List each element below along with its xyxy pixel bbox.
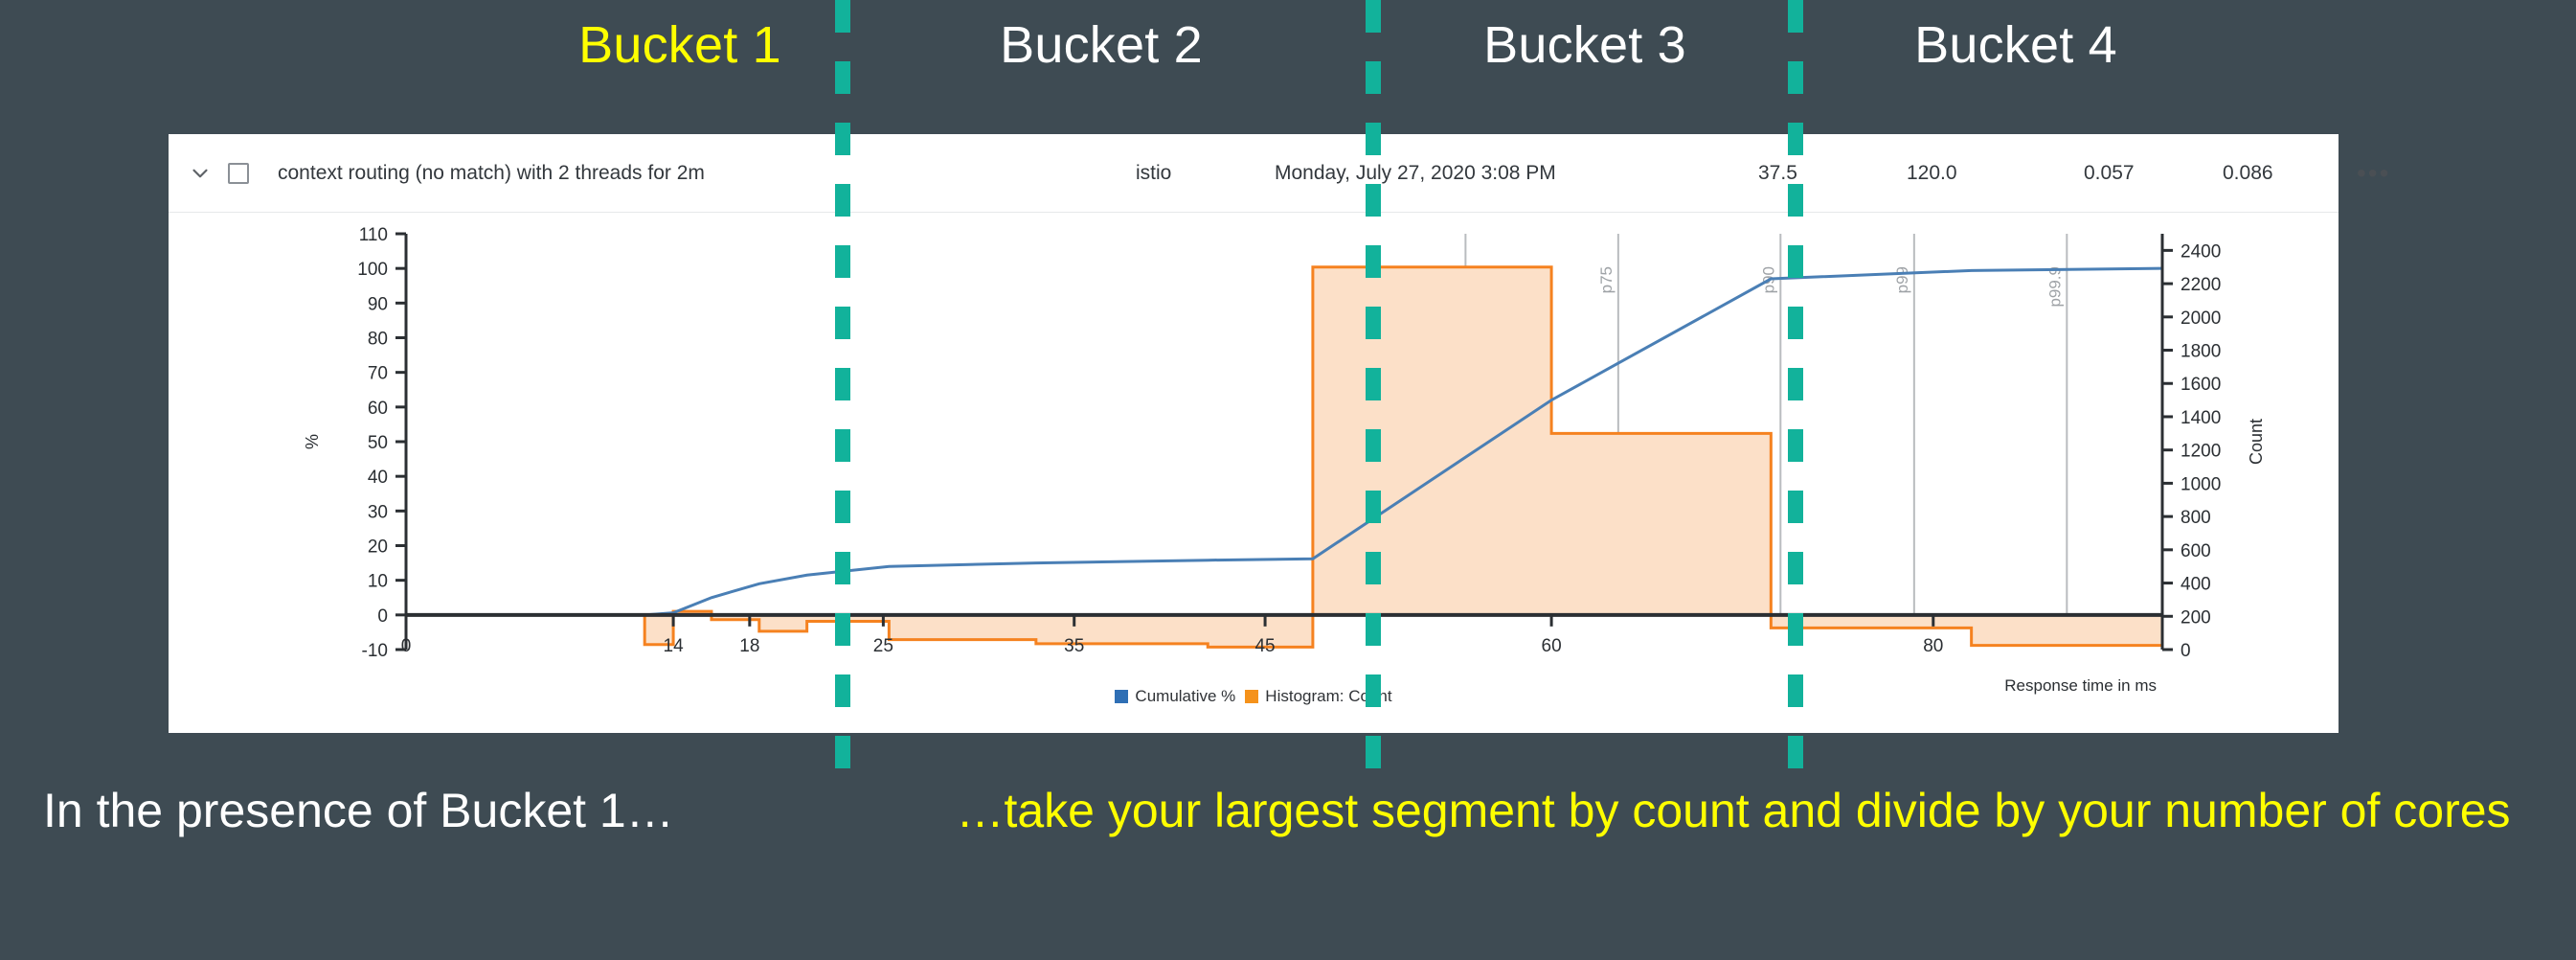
x-tick-label: 14 (664, 636, 685, 656)
percentile-label-p75: p75 (1597, 266, 1616, 293)
x-tick-label: 45 (1254, 636, 1275, 656)
y-tick-label-right: 2000 (2181, 309, 2221, 329)
y-tick-label-left: 110 (359, 225, 388, 245)
x-tick-label: 60 (1542, 636, 1562, 656)
cumulative-series (406, 268, 2162, 615)
checkbox-unchecked-icon[interactable] (228, 163, 249, 184)
divider-1 (835, 0, 850, 778)
x-tick-label: 18 (739, 636, 759, 656)
y-tick-label-right: 400 (2181, 575, 2211, 595)
metric-value-3: 0.057 (2084, 162, 2135, 185)
y-tick-label-right: 600 (2181, 541, 2211, 561)
histogram-series (644, 267, 2162, 648)
y-axis-label-right: Count (2247, 419, 2266, 465)
bucket-label-2: Bucket 2 (986, 17, 1216, 74)
y-tick-label-left: 90 (368, 294, 388, 314)
chevron-down-icon[interactable] (188, 161, 213, 186)
y-tick-label-left: 40 (368, 468, 388, 488)
y-tick-label-left: 80 (368, 330, 388, 350)
x-tick-label: 25 (873, 636, 893, 656)
y-tick-label-right: 1400 (2181, 408, 2221, 428)
y-tick-label-right: 2200 (2181, 275, 2221, 295)
divider-2 (1366, 0, 1381, 778)
caption-right: …take your largest segment by count and … (924, 784, 2542, 838)
bucket-label-3: Bucket 3 (1470, 17, 1700, 74)
x-axis-label: Response time in ms (2004, 676, 2157, 695)
y-tick-label-right: 800 (2181, 508, 2211, 528)
metric-value-4: 0.086 (2223, 162, 2273, 185)
y-tick-label-left: 20 (368, 537, 388, 558)
result-row-header[interactable]: context routing (no match) with 2 thread… (169, 134, 2339, 213)
x-tick-label: 0 (401, 636, 412, 656)
x-tick-label: 35 (1064, 636, 1084, 656)
overflow-menu-icon[interactable]: ••• (2357, 169, 2390, 178)
benchmark-result-card: context routing (no match) with 2 thread… (169, 134, 2339, 733)
slide-root: Bucket 1 Bucket 2 Bucket 3 Bucket 4 cont… (0, 0, 2576, 960)
y-tick-label-left: 70 (368, 364, 388, 384)
divider-3 (1788, 0, 1803, 778)
y-tick-label-left: 10 (368, 572, 388, 592)
bucket-label-1: Bucket 1 (565, 17, 795, 74)
y-tick-label-left: 0 (377, 606, 388, 627)
metric-value-2: 120.0 (1907, 162, 1957, 185)
y-tick-label-right: 1000 (2181, 474, 2221, 494)
y-tick-label-right: 1200 (2181, 442, 2221, 462)
y-tick-label-left: 50 (368, 433, 388, 453)
caption-left: In the presence of Bucket 1… (43, 784, 905, 838)
y-tick-label-right: 200 (2181, 607, 2211, 628)
y-tick-label-right: 0 (2181, 641, 2191, 661)
y-tick-label-right: 1600 (2181, 375, 2221, 395)
bucket-label-4: Bucket 4 (1901, 17, 2131, 74)
y-tick-label-right: 2400 (2181, 241, 2221, 262)
y-tick-label-right: 1800 (2181, 342, 2221, 362)
run-tag-label: istio (1136, 162, 1171, 185)
percentile-label-p99: p99 (1893, 266, 1911, 293)
x-tick-label: 80 (1923, 636, 1943, 656)
chart-canvas: p50p75p90p99p99.9-1001020304050607080901… (169, 213, 2339, 733)
y-tick-label-left: -10 (362, 641, 388, 661)
y-tick-label-left: 60 (368, 399, 388, 419)
y-axis-label-left: % (303, 434, 322, 449)
histogram-chart: p50p75p90p99p99.9-1001020304050607080901… (169, 213, 2339, 733)
y-tick-label-left: 30 (368, 502, 388, 522)
percentile-label-p99.9: p99.9 (2045, 266, 2064, 308)
y-tick-label-left: 100 (357, 260, 388, 280)
run-timestamp: Monday, July 27, 2020 3:08 PM (1275, 162, 1556, 185)
run-name-label: context routing (no match) with 2 thread… (278, 162, 705, 185)
